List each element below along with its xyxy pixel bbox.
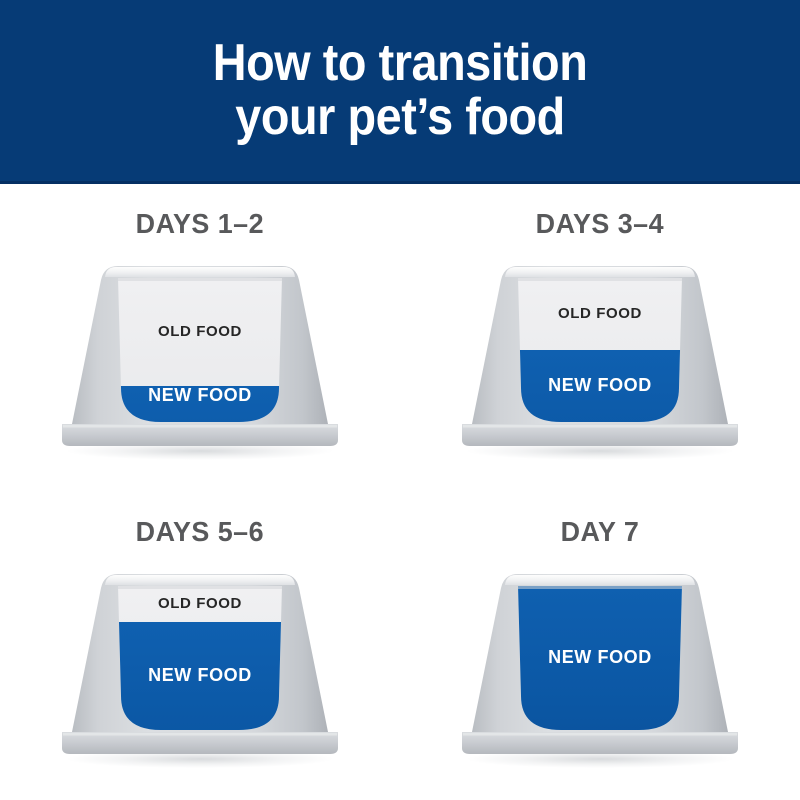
pet-food-bowl-icon: OLD FOODNEW FOOD bbox=[55, 256, 345, 466]
step-title: DAYS 3–4 bbox=[536, 208, 664, 240]
pet-food-bowl-icon: OLD FOODNEW FOOD bbox=[55, 564, 345, 774]
bowl-well-topshade bbox=[518, 586, 682, 589]
pet-food-bowl-icon: NEW FOOD bbox=[455, 564, 745, 774]
bowl-well-topshade bbox=[518, 278, 682, 281]
bowl-base-highlight bbox=[463, 733, 737, 736]
bowl-rim-highlight bbox=[105, 575, 295, 585]
bowl-base-highlight bbox=[63, 733, 337, 736]
transition-step-2: DAYS 3–4 bbox=[400, 184, 800, 492]
step-title: DAY 7 bbox=[561, 516, 640, 548]
bowl-well-topshade bbox=[118, 586, 282, 589]
transition-steps-grid: DAYS 1–2 bbox=[0, 184, 800, 800]
bowl-base-highlight bbox=[463, 425, 737, 428]
bowl-well-topshade bbox=[118, 278, 282, 281]
page-title: How to transition your pet’s food bbox=[195, 37, 606, 143]
step-title: DAYS 1–2 bbox=[136, 208, 264, 240]
bowl-rim-highlight bbox=[105, 267, 295, 277]
step-title: DAYS 5–6 bbox=[136, 516, 264, 548]
pet-food-bowl-icon: OLD FOODNEW FOOD bbox=[455, 256, 745, 466]
header-banner: How to transition your pet’s food bbox=[0, 0, 800, 184]
transition-step-1: DAYS 1–2 bbox=[0, 184, 400, 492]
bowl-base-highlight bbox=[63, 425, 337, 428]
bowl-rim-highlight bbox=[505, 575, 695, 585]
bowl-rim-highlight bbox=[505, 267, 695, 277]
transition-step-3: DAYS 5–6 bbox=[0, 492, 400, 800]
transition-step-4: DAY 7 bbox=[400, 492, 800, 800]
